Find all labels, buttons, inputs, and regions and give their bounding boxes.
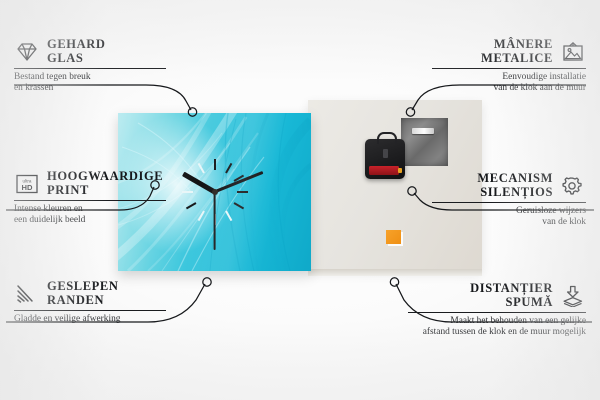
- mechanism-shaft: [383, 149, 388, 158]
- feature-title-line2: RANDEN: [47, 294, 119, 308]
- feature-desc-line1: Bestand tegen breuk: [14, 72, 166, 83]
- feature-desc-line1: Gladde en veilige afwerking: [14, 314, 166, 325]
- hour-hand: [182, 172, 215, 194]
- svg-text:HD: HD: [22, 183, 33, 192]
- spacer-stack-icon: [560, 285, 586, 307]
- feature-desc-line2: en krassen: [14, 83, 166, 94]
- feature-desc-line1: Maakt het behouden van een gelijke: [408, 316, 586, 327]
- feature-title-line2: SILENȚIOS: [477, 186, 553, 200]
- foam-spacer: [386, 230, 401, 244]
- battery: [369, 166, 399, 175]
- feature-manere-metalice[interactable]: MÂNERE METALICE Eenvoudige installatie v…: [432, 38, 586, 95]
- second-hand: [214, 192, 216, 250]
- feature-distantier-spuma[interactable]: DISTANȚIER SPUMĂ Maakt het behouden van …: [408, 282, 586, 339]
- feature-title-line2: PRINT: [47, 184, 163, 198]
- feature-desc-line2: een duidelijk beeld: [14, 215, 166, 226]
- feature-title-line2: SPUMĂ: [470, 296, 553, 310]
- picture-frame-icon: [560, 41, 586, 63]
- beveled-edges-icon: [14, 283, 40, 305]
- feature-desc-line1: Geruisloze wijzers: [432, 206, 586, 217]
- infographic-canvas: GEHARD GLAS Bestand tegen breuk en krass…: [0, 0, 600, 400]
- feature-desc-line2: van de klok aan de muur: [432, 83, 586, 94]
- feature-title-line1: GEHARD: [47, 38, 105, 52]
- clock-mechanism: [365, 139, 405, 179]
- mechanism-loop: [377, 132, 397, 144]
- diamond-icon: [14, 41, 40, 63]
- feature-title-line1: HOOGWAARDIGE: [47, 170, 163, 184]
- feature-hoogwaardige-print[interactable]: ultra HD HOOGWAARDIGE PRINT Intense kleu…: [14, 170, 166, 227]
- metal-hanger: [401, 118, 448, 166]
- feature-desc-line2: van de klok: [432, 217, 586, 228]
- feature-title-line1: DISTANȚIER: [470, 282, 553, 296]
- divider: [14, 68, 166, 69]
- divider: [14, 200, 166, 201]
- gear-icon: [560, 175, 586, 197]
- feature-title-line2: METALICE: [481, 52, 553, 66]
- product-image: [118, 100, 482, 280]
- divider: [432, 202, 586, 203]
- divider: [408, 312, 586, 313]
- feature-title-line1: MÂNERE: [481, 38, 553, 52]
- feature-mecanism-silentios[interactable]: MECANISM SILENȚIOS Geruisloze wijzers va…: [432, 172, 586, 229]
- feature-desc-line2: afstand tussen de klok en de muur mogeli…: [408, 327, 586, 338]
- feature-gehard-glas[interactable]: GEHARD GLAS Bestand tegen breuk en krass…: [14, 38, 166, 95]
- feature-desc-line1: Eenvoudige installatie: [432, 72, 586, 83]
- feature-title-line1: GESLEPEN: [47, 280, 119, 294]
- minute-hand: [214, 171, 263, 194]
- feature-title-line1: MECANISM: [477, 172, 553, 186]
- center-cap: [212, 189, 218, 195]
- feature-desc-line1: Intense kleuren en: [14, 204, 166, 215]
- divider: [14, 310, 166, 311]
- divider: [432, 68, 586, 69]
- feature-geslepen-randen[interactable]: GESLEPEN RANDEN Gladde en veilige afwerk…: [14, 280, 166, 325]
- feature-title-line2: GLAS: [47, 52, 105, 66]
- hanger-slot: [412, 128, 434, 134]
- ultra-hd-icon: ultra HD: [14, 173, 40, 195]
